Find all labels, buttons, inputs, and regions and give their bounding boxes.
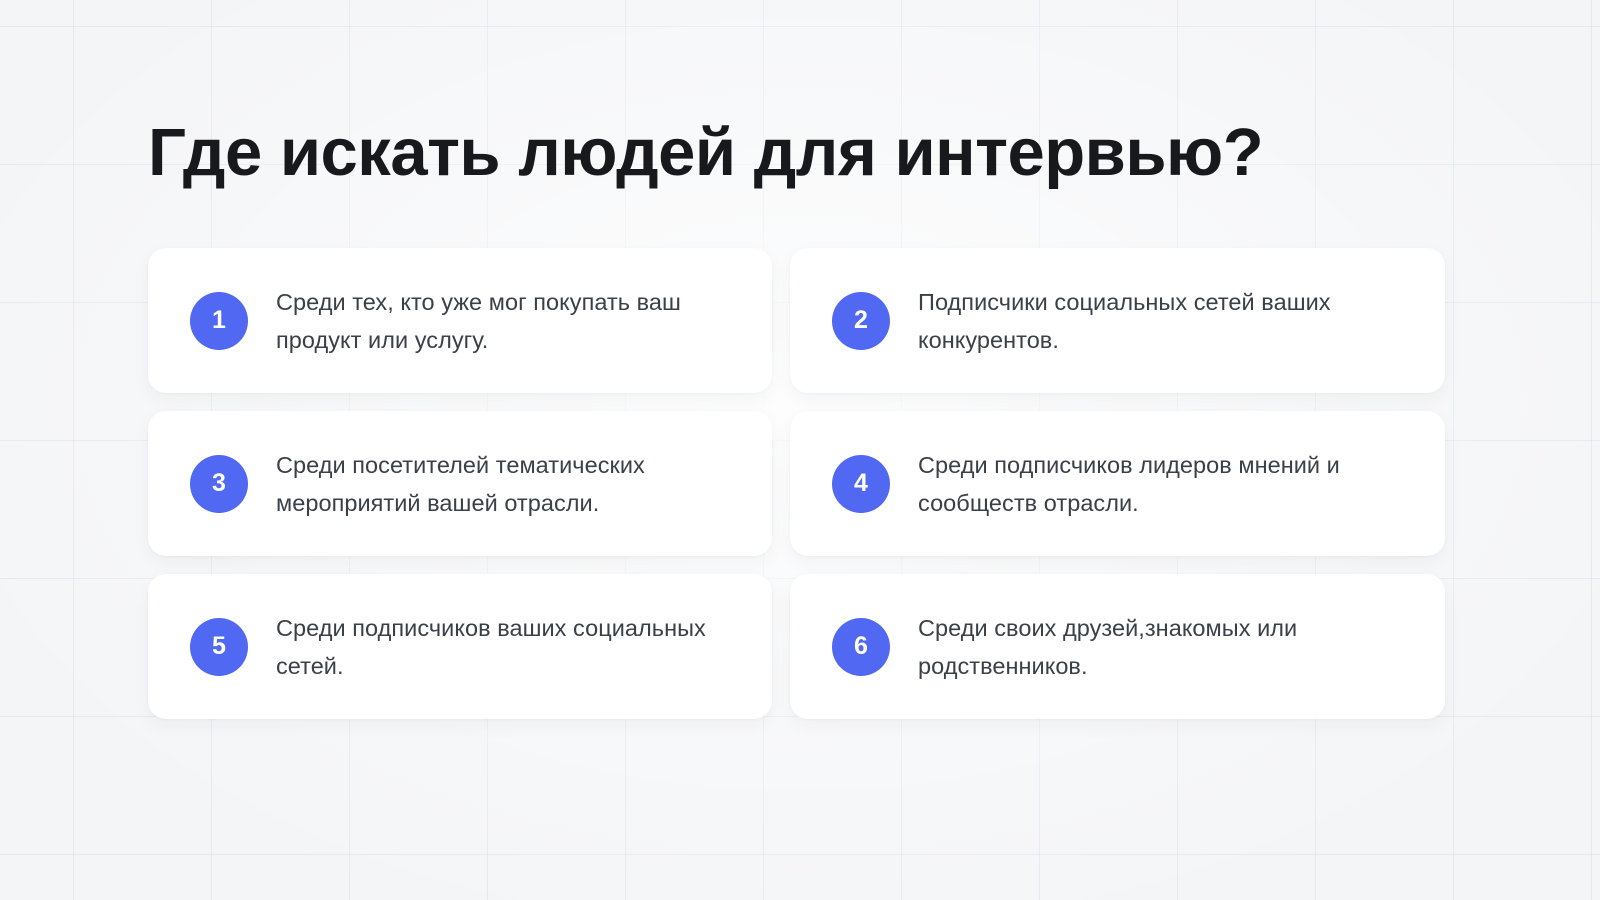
card-text-1: Среди тех, кто уже мог покупать ваш прод…	[276, 283, 738, 359]
reason-card-6[interactable]: 6 Среди своих друзей,знакомых или родств…	[790, 574, 1445, 719]
card-number-badge-6: 6	[832, 618, 890, 676]
card-number-badge-1: 1	[190, 292, 248, 350]
reason-card-1[interactable]: 1 Среди тех, кто уже мог покупать ваш пр…	[148, 248, 772, 393]
card-number-badge-5: 5	[190, 618, 248, 676]
card-number-badge-3: 3	[190, 455, 248, 513]
card-number-badge-2: 2	[832, 292, 890, 350]
reason-card-grid: 1 Среди тех, кто уже мог покупать ваш пр…	[148, 248, 1452, 719]
reason-card-4[interactable]: 4 Среди подписчиков лидеров мнений и соо…	[790, 411, 1445, 556]
card-text-6: Среди своих друзей,знакомых или родствен…	[918, 609, 1411, 685]
slide-canvas: Где искать людей для интервью? 1 Среди т…	[0, 0, 1600, 900]
reason-card-2[interactable]: 2 Подписчики социальных сетей ваших конк…	[790, 248, 1445, 393]
card-text-4: Среди подписчиков лидеров мнений и сообщ…	[918, 446, 1411, 522]
slide-content: Где искать людей для интервью? 1 Среди т…	[0, 0, 1600, 719]
card-text-2: Подписчики социальных сетей ваших конкур…	[918, 283, 1411, 359]
page-title: Где искать людей для интервью?	[148, 0, 1452, 188]
reason-card-5[interactable]: 5 Среди подписчиков ваших социальных сет…	[148, 574, 772, 719]
reason-card-3[interactable]: 3 Среди посетителей тематических меропри…	[148, 411, 772, 556]
card-text-5: Среди подписчиков ваших социальных сетей…	[276, 609, 738, 685]
card-number-badge-4: 4	[832, 455, 890, 513]
card-text-3: Среди посетителей тематических мероприят…	[276, 446, 738, 522]
